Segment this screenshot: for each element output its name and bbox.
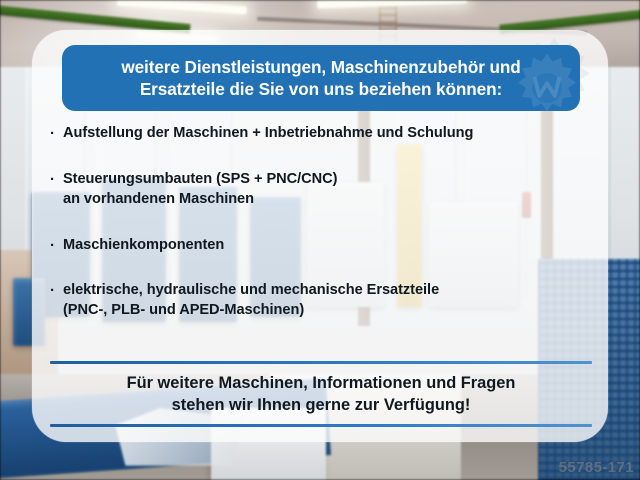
- slide-canvas: weitere Dienstleistungen, Maschinenzubeh…: [0, 0, 640, 480]
- list-item: · Maschienkomponenten: [50, 236, 598, 256]
- list-item: · Aufstellung der Maschinen + Inbetriebn…: [50, 124, 598, 144]
- watermark-id: 55785-171: [559, 459, 634, 476]
- header-line-2: Ersatzteile die Sie von uns beziehen kön…: [140, 78, 502, 100]
- list-item: · elektrische, hydraulische und mechanis…: [50, 281, 598, 321]
- bullet-marker: ·: [50, 236, 63, 256]
- list-item-label: Maschienkomponenten: [63, 236, 224, 256]
- services-list: · Aufstellung der Maschinen + Inbetriebn…: [50, 124, 598, 321]
- footer-bottom-divider: [50, 424, 592, 427]
- ceiling-light: [117, 0, 247, 15]
- bullet-marker: ·: [50, 124, 63, 144]
- footer-text: Für weitere Maschinen, Informationen und…: [50, 364, 592, 424]
- list-item-label: Steuerungsumbauten (SPS + PNC/CNC) an vo…: [63, 170, 337, 210]
- header-banner: weitere Dienstleistungen, Maschinenzubeh…: [62, 45, 580, 111]
- bullet-marker: ·: [50, 170, 63, 190]
- list-item-label: elektrische, hydraulische und mechanisch…: [63, 281, 439, 321]
- header-line-1: weitere Dienstleistungen, Maschinenzubeh…: [121, 56, 520, 78]
- footer-callout: Für weitere Maschinen, Informationen und…: [50, 361, 592, 427]
- bullet-marker: ·: [50, 281, 63, 301]
- list-item-label: Aufstellung der Maschinen + Inbetriebnah…: [63, 124, 473, 144]
- list-item: · Steuerungsumbauten (SPS + PNC/CNC) an …: [50, 170, 598, 210]
